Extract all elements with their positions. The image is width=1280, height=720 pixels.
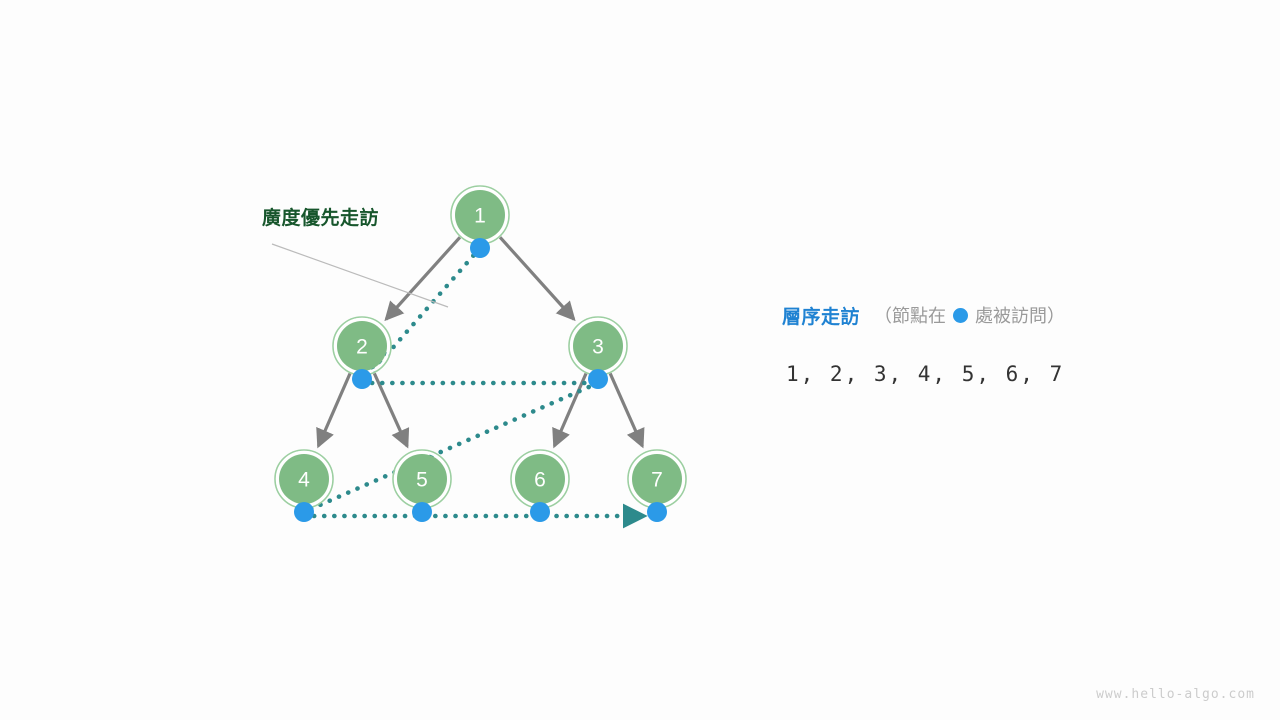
legend-panel: 層序走訪 （節點在 處被訪問）: [782, 300, 1202, 330]
visit-dot-3: [588, 369, 608, 389]
visit-dot-7: [647, 502, 667, 522]
legend-note-after: 處被訪問）: [975, 302, 1065, 328]
node-value-label: 4: [298, 469, 310, 492]
tree-edge-n2-n4: [318, 374, 350, 447]
tree-node-6: 6: [511, 450, 569, 522]
tree-nodes-group: 1234567: [275, 186, 686, 522]
site-watermark: www.hello-algo.com: [1096, 687, 1255, 702]
tree-node-4: 4: [275, 450, 333, 522]
tree-edge-n1-n2: [386, 237, 460, 319]
node-value-label: 6: [534, 469, 546, 492]
node-value-label: 1: [474, 205, 486, 228]
visit-dot-6: [530, 502, 550, 522]
node-value-label: 7: [651, 469, 663, 492]
visit-dot-5: [412, 502, 432, 522]
tree-node-7: 7: [628, 450, 686, 522]
annotation-leader-line-group: [272, 244, 448, 307]
tree-edge-n1-n3: [500, 237, 574, 319]
node-value-label: 3: [592, 336, 604, 359]
visit-dot-2: [352, 369, 372, 389]
legend-title: 層序走訪: [782, 302, 860, 329]
traversal-sequence: 1, 2, 3, 4, 5, 6, 7: [786, 362, 1064, 386]
tree-edge-n3-n7: [610, 373, 642, 446]
node-value-label: 2: [356, 336, 368, 359]
tree-node-5: 5: [393, 450, 451, 522]
bfs-annotation-label: 廣度優先走訪: [262, 203, 379, 230]
visit-dot-1: [470, 238, 490, 258]
tree-edge-n3-n6: [554, 374, 586, 447]
tree-node-2: 2: [333, 317, 391, 389]
binary-tree-graphic: 1234567: [0, 0, 1280, 720]
legend-note: （節點在 處被訪問）: [874, 302, 1065, 328]
node-value-label: 5: [416, 469, 428, 492]
legend-heading-row: 層序走訪 （節點在 處被訪問）: [782, 300, 1202, 330]
tree-node-3: 3: [569, 317, 627, 389]
tree-node-1: 1: [451, 186, 509, 258]
visit-dot-4: [294, 502, 314, 522]
visit-dot-icon: [953, 308, 968, 323]
diagram-canvas: 1234567 廣度優先走訪 層序走訪 （節點在 處被訪問） 1, 2, 3, …: [0, 0, 1280, 720]
legend-note-before: （節點在: [874, 302, 946, 328]
annotation-leader-line: [272, 244, 448, 307]
